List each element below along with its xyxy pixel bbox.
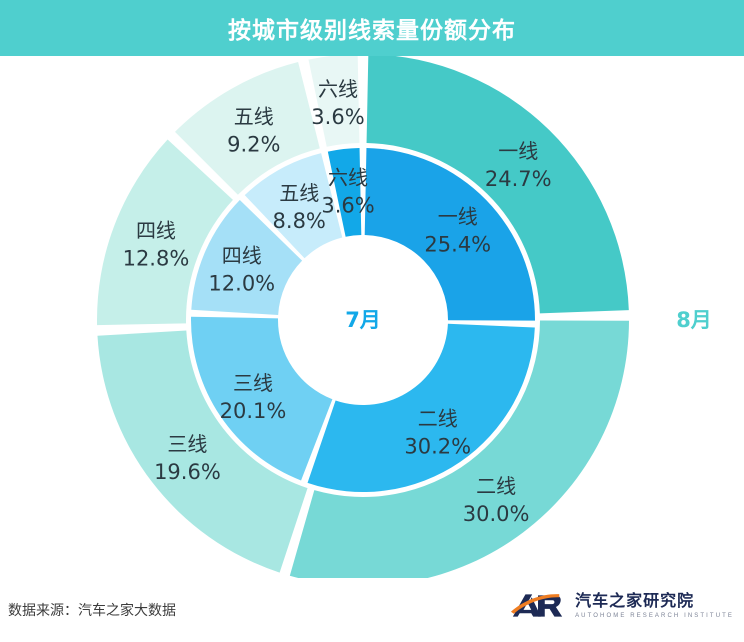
nested-donut-chart: 一线24.7%二线30.0%三线19.6%四线12.8%五线9.2%六线3.6%… (0, 56, 744, 578)
logo-text-block: 汽车之家研究院 AUTOHOME RESEARCH INSTITUTE (575, 592, 734, 621)
outer-month-label: 8月 (676, 308, 712, 332)
slice-value-label: 30.2% (404, 434, 471, 458)
ar-logo-icon (509, 590, 567, 622)
slice-value-label: 12.8% (123, 246, 190, 270)
slice-value-label: 3.6% (321, 193, 374, 217)
slice-value-label: 8.8% (273, 209, 326, 233)
slice-value-label: 30.0% (463, 502, 530, 526)
logo-en-text: AUTOHOME RESEARCH INSTITUTE (575, 612, 734, 621)
brand-logo: 汽车之家研究院 AUTOHOME RESEARCH INSTITUTE (509, 590, 734, 622)
slice-category-label: 三线 (233, 371, 273, 395)
slice-category-label: 四线 (222, 243, 262, 267)
slice-value-label: 3.6% (311, 105, 364, 129)
slice-category-label: 三线 (167, 432, 207, 456)
slice-category-label: 二线 (476, 474, 516, 498)
slice-value-label: 24.7% (485, 167, 552, 191)
donut-chart-area: 一线24.7%二线30.0%三线19.6%四线12.8%五线9.2%六线3.6%… (0, 56, 744, 578)
slice-category-label: 一线 (438, 204, 478, 228)
slice-category-label: 六线 (328, 165, 368, 189)
slice-category-label: 二线 (418, 406, 458, 430)
slice-value-label: 19.6% (154, 460, 221, 484)
slice-value-label: 20.1% (220, 399, 287, 423)
slice-category-label: 一线 (498, 139, 538, 163)
slice-category-label: 四线 (136, 218, 176, 242)
source-text: 数据来源：汽车之家大数据 (8, 600, 176, 620)
slice-category-label: 六线 (318, 77, 358, 101)
slice-value-label: 9.2% (227, 132, 280, 156)
header-band: 按城市级别线索量份额分布 (0, 0, 744, 56)
slice-value-label: 12.0% (208, 271, 275, 295)
page-title: 按城市级别线索量份额分布 (228, 11, 516, 45)
slice-value-label: 25.4% (424, 232, 491, 256)
footer: 数据来源：汽车之家大数据 汽车之家研究院 AUTOHOME RESEARCH I… (0, 578, 744, 642)
center-month-label: 7月 (345, 308, 381, 332)
donut-slice[interactable] (308, 56, 359, 147)
slice-category-label: 五线 (279, 181, 319, 205)
slice-category-label: 五线 (234, 104, 274, 128)
logo-cn-text: 汽车之家研究院 (575, 592, 734, 610)
